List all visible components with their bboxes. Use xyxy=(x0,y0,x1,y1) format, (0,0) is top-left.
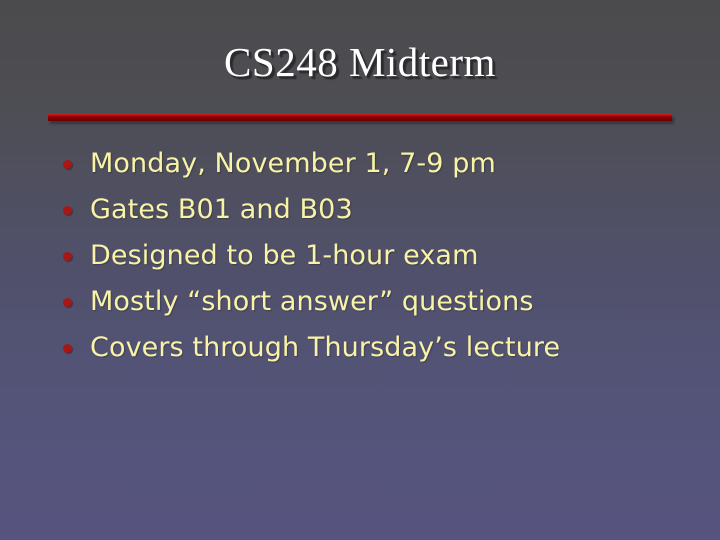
list-item: Designed to be 1-hour exam xyxy=(58,233,698,279)
list-item: Monday, November 1, 7-9 pm xyxy=(58,141,698,187)
bullet-dot-icon xyxy=(63,206,72,215)
bullet-list: Monday, November 1, 7-9 pm Gates B01 and… xyxy=(58,141,698,371)
list-item-label: Gates B01 and B03 xyxy=(90,194,353,226)
list-item-label: Designed to be 1-hour exam xyxy=(90,240,478,272)
bullet-dot-icon xyxy=(63,298,72,307)
title-divider xyxy=(48,114,672,124)
bullet-dot-icon xyxy=(63,160,72,169)
page-title: CS248 Midterm xyxy=(224,38,496,86)
list-item: Mostly “short answer” questions xyxy=(58,279,698,325)
presentation-slide: CS248 Midterm Monday, November 1, 7-9 pm… xyxy=(0,0,720,540)
red-rule-bar xyxy=(48,114,672,121)
bullet-dot-icon xyxy=(63,344,72,353)
list-item-label: Mostly “short answer” questions xyxy=(90,286,534,318)
list-item-label: Monday, November 1, 7-9 pm xyxy=(90,148,496,180)
bullet-dot-icon xyxy=(63,252,72,261)
slide-title-area: CS248 Midterm xyxy=(0,38,720,86)
list-item-label: Covers through Thursday’s lecture xyxy=(90,332,560,364)
list-item: Covers through Thursday’s lecture xyxy=(58,325,698,371)
list-item: Gates B01 and B03 xyxy=(58,187,698,233)
